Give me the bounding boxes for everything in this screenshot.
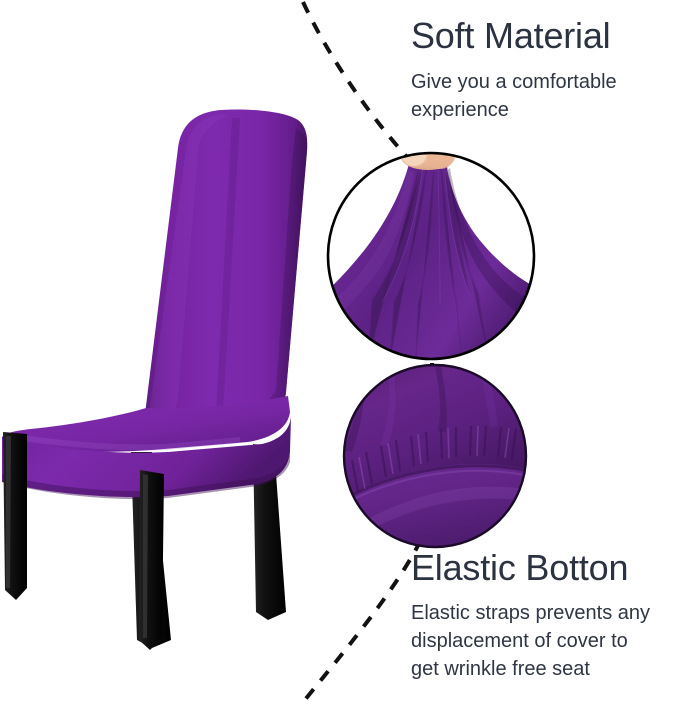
feature-elastic-bottom-text: Elastic Botton Elastic straps prevents a…: [411, 546, 673, 683]
elastic-bottom-description-line-1: Elastic straps prevents any: [411, 599, 673, 627]
elastic-bottom-description-line-2: displacement of cover to: [411, 627, 673, 655]
elastic-bottom-description-line-3: get wrinkle free seat: [411, 655, 673, 683]
elastic-bottom-headline: Elastic Botton: [411, 546, 673, 590]
soft-material-description-line-2: experience: [411, 96, 673, 124]
feature-soft-material-text: Soft Material Give you a comfortable exp…: [411, 14, 673, 124]
soft-material-description: Give you a comfortable experience: [411, 68, 673, 124]
product-feature-infographic: Soft Material Give you a comfortable exp…: [0, 0, 679, 708]
soft-material-description-line-1: Give you a comfortable: [411, 68, 673, 96]
soft-material-headline: Soft Material: [411, 14, 673, 58]
elastic-bottom-description: Elastic straps prevents any displacement…: [411, 599, 673, 683]
